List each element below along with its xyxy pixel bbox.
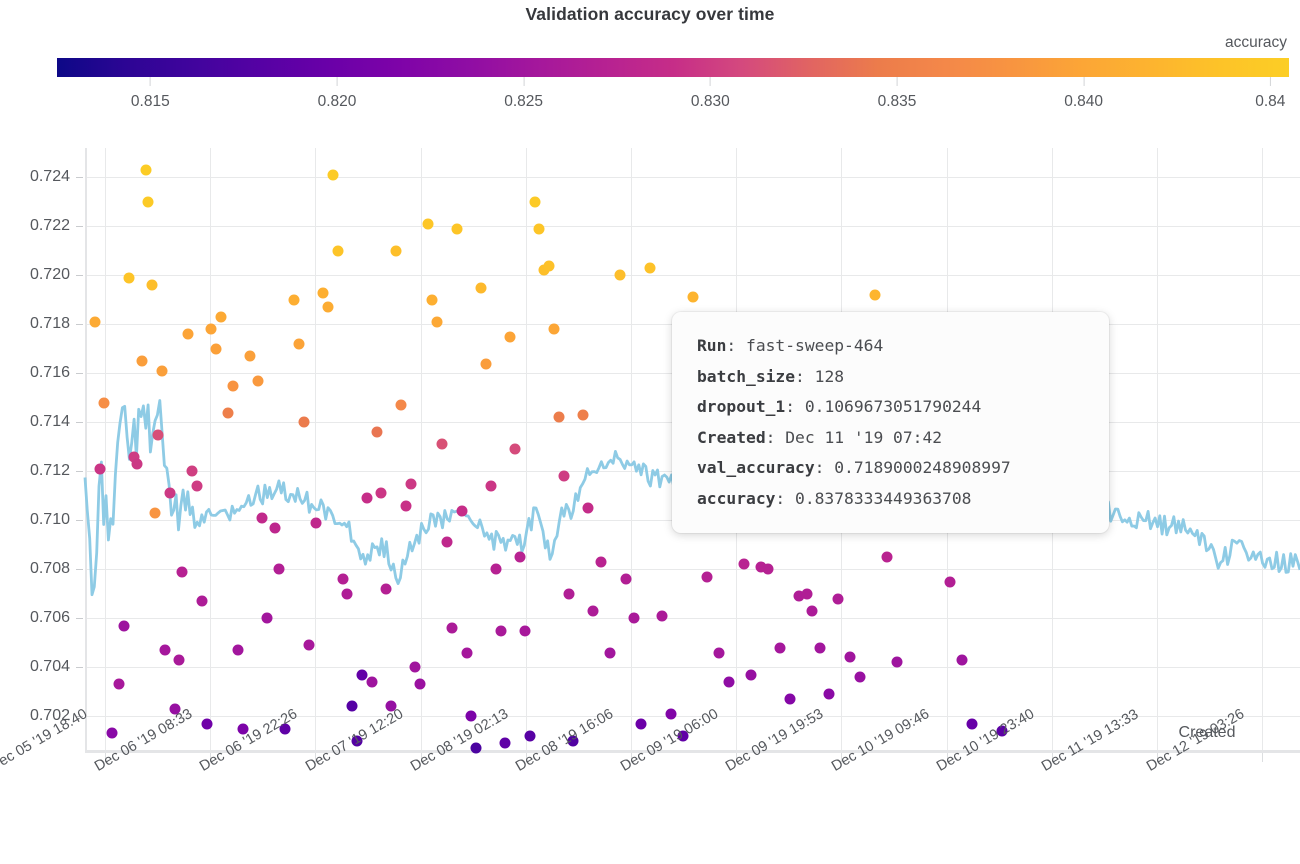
scatter-point[interactable] — [636, 718, 647, 729]
scatter-point[interactable] — [152, 429, 163, 440]
scatter-point[interactable] — [480, 358, 491, 369]
scatter-point[interactable] — [534, 223, 545, 234]
scatter-point[interactable] — [327, 169, 338, 180]
scatter-point[interactable] — [738, 559, 749, 570]
y-axis-tick-mark — [76, 569, 83, 570]
scatter-point[interactable] — [228, 380, 239, 391]
colorbar-ticks: 0.8150.8200.8250.8300.8350.8400.84 — [57, 77, 1289, 117]
y-axis-tick-label: 0.712 — [0, 462, 70, 480]
scatter-point[interactable] — [233, 645, 244, 656]
colorbar-tick-label: 0.815 — [131, 93, 170, 111]
scatter-point[interactable] — [123, 272, 134, 283]
scatter-point[interactable] — [784, 694, 795, 705]
colorbar-tick-label: 0.825 — [504, 93, 543, 111]
scatter-point[interactable] — [337, 574, 348, 585]
scatter-point[interactable] — [427, 294, 438, 305]
scatter-point[interactable] — [318, 287, 329, 298]
scatter-point[interactable] — [614, 270, 625, 281]
scatter-point[interactable] — [762, 564, 773, 575]
scatter-point[interactable] — [177, 566, 188, 577]
scatter-point[interactable] — [476, 282, 487, 293]
scatter-point[interactable] — [461, 647, 472, 658]
scatter-point[interactable] — [183, 329, 194, 340]
tooltip-row: batch_size: 128 — [697, 362, 1109, 393]
scatter-point[interactable] — [891, 657, 902, 668]
scatter-point[interactable] — [114, 679, 125, 690]
y-axis-tick-mark — [76, 618, 83, 619]
scatter-point[interactable] — [252, 375, 263, 386]
tooltip-key: dropout_1 — [697, 397, 785, 416]
scatter-point[interactable] — [815, 642, 826, 653]
scatter-point[interactable] — [437, 439, 448, 450]
y-axis-tick-mark — [76, 422, 83, 423]
scatter-point[interactable] — [801, 588, 812, 599]
y-axis-tick-label: 0.710 — [0, 511, 70, 529]
scatter-point[interactable] — [881, 552, 892, 563]
scatter-point[interactable] — [505, 331, 516, 342]
scatter-point[interactable] — [587, 605, 598, 616]
scatter-point[interactable] — [332, 245, 343, 256]
scatter-point[interactable] — [524, 730, 535, 741]
colorbar-tick: 0.815 — [131, 77, 170, 111]
scatter-point[interactable] — [665, 708, 676, 719]
scatter-point[interactable] — [381, 583, 392, 594]
scatter-point[interactable] — [604, 647, 615, 658]
scatter-point[interactable] — [806, 605, 817, 616]
colorbar-tick-mark — [896, 77, 897, 86]
tooltip-value: : 0.1069673051790244 — [785, 397, 981, 416]
y-axis-tick-label: 0.706 — [0, 609, 70, 627]
tooltip-value: : Dec 11 '19 07:42 — [766, 428, 942, 447]
tooltip-key: Run — [697, 336, 726, 355]
scatter-point[interactable] — [150, 507, 161, 518]
y-axis-tick-mark — [76, 667, 83, 668]
scatter-point[interactable] — [466, 711, 477, 722]
scatter-point[interactable] — [245, 351, 256, 362]
scatter-point[interactable] — [186, 466, 197, 477]
scatter-point[interactable] — [143, 196, 154, 207]
colorbar-tick-label: 0.835 — [878, 93, 917, 111]
colorbar-tick-mark — [710, 77, 711, 86]
scatter-point[interactable] — [490, 564, 501, 575]
tooltip-row: val_accuracy: 0.7189000248908997 — [697, 453, 1109, 484]
scatter-point[interactable] — [137, 356, 148, 367]
scatter-point[interactable] — [558, 471, 569, 482]
scatter-point[interactable] — [657, 610, 668, 621]
scatter-point[interactable] — [945, 576, 956, 587]
colorbar-tick-mark — [1270, 77, 1271, 86]
scatter-point[interactable] — [165, 488, 176, 499]
scatter-point[interactable] — [544, 260, 555, 271]
y-axis-tick-mark — [76, 373, 83, 374]
scatter-point[interactable] — [833, 593, 844, 604]
tooltip-row: Run: fast-sweep-464 — [697, 331, 1109, 362]
scatter-point[interactable] — [366, 676, 377, 687]
colorbar-label: accuracy — [1225, 34, 1287, 52]
scatter-point[interactable] — [173, 654, 184, 665]
tooltip-value: : 0.7189000248908997 — [815, 458, 1011, 477]
scatter-point[interactable] — [519, 625, 530, 636]
scatter-point[interactable] — [620, 574, 631, 585]
scatter-point[interactable] — [257, 512, 268, 523]
colorbar-tick-mark — [336, 77, 337, 86]
scatter-point[interactable] — [274, 564, 285, 575]
x-axis-title: Created — [1179, 724, 1236, 742]
y-axis-tick-label: 0.724 — [0, 168, 70, 186]
colorbar-tick: 0.840 — [1064, 77, 1103, 111]
colorbar-gradient — [57, 58, 1289, 77]
scatter-point[interactable] — [342, 588, 353, 599]
scatter-point[interactable] — [310, 517, 321, 528]
scatter-point[interactable] — [442, 537, 453, 548]
tooltip-value: : 0.8378333449363708 — [775, 489, 971, 508]
scatter-point[interactable] — [563, 588, 574, 599]
scatter-point[interactable] — [855, 672, 866, 683]
scatter-point[interactable] — [347, 701, 358, 712]
scatter-point[interactable] — [553, 412, 564, 423]
scatter-point[interactable] — [160, 645, 171, 656]
scatter-point[interactable] — [146, 280, 157, 291]
scatter-point[interactable] — [500, 738, 511, 749]
y-axis-tick-label: 0.704 — [0, 658, 70, 676]
scatter-point[interactable] — [495, 625, 506, 636]
scatter-point[interactable] — [191, 481, 202, 492]
page-title: Validation accuracy over time — [0, 0, 1300, 28]
scatter-point[interactable] — [745, 669, 756, 680]
scatter-point[interactable] — [262, 613, 273, 624]
scatter-point[interactable] — [140, 165, 151, 176]
scatter-point[interactable] — [371, 427, 382, 438]
colorbar-tick-label: 0.820 — [318, 93, 357, 111]
scatter-point[interactable] — [583, 503, 594, 514]
y-axis-tick-label: 0.714 — [0, 413, 70, 431]
tooltip-value: : 128 — [795, 367, 844, 386]
y-axis-tick-mark — [76, 226, 83, 227]
scatter-point[interactable] — [303, 640, 314, 651]
scatter-point[interactable] — [201, 718, 212, 729]
scatter-point[interactable] — [106, 728, 117, 739]
scatter-point[interactable] — [471, 743, 482, 754]
scatter-point[interactable] — [288, 294, 299, 305]
y-axis-tick-label: 0.708 — [0, 560, 70, 578]
scatter-point[interactable] — [823, 689, 834, 700]
y-axis-tick-mark — [76, 520, 83, 521]
scatter-point[interactable] — [400, 500, 411, 511]
scatter-point[interactable] — [451, 223, 462, 234]
scatter-point[interactable] — [211, 343, 222, 354]
scatter-point[interactable] — [714, 647, 725, 658]
scatter-point[interactable] — [510, 444, 521, 455]
scatter-point[interactable] — [578, 409, 589, 420]
tooltip-row: Created: Dec 11 '19 07:42 — [697, 423, 1109, 454]
y-axis-tick-mark — [76, 177, 83, 178]
scatter-point[interactable] — [94, 463, 105, 474]
colorbar-tick-label: 0.84 — [1255, 93, 1285, 111]
tooltip-key: batch_size — [697, 367, 795, 386]
scatter-point[interactable] — [485, 481, 496, 492]
scatter-point[interactable] — [644, 263, 655, 274]
tooltip-key: val_accuracy — [697, 458, 815, 477]
scatter-point[interactable] — [376, 488, 387, 499]
tooltip-row: accuracy: 0.8378333449363708 — [697, 484, 1109, 515]
scatter-point[interactable] — [845, 652, 856, 663]
scatter-point[interactable] — [293, 338, 304, 349]
scatter-point[interactable] — [514, 552, 525, 563]
scatter-point[interactable] — [456, 505, 467, 516]
scatter-point[interactable] — [269, 522, 280, 533]
scatter-point[interactable] — [702, 571, 713, 582]
colorbar-tick-label: 0.840 — [1064, 93, 1103, 111]
scatter-point[interactable] — [395, 400, 406, 411]
colorbar-tick-mark — [1083, 77, 1084, 86]
scatter-point[interactable] — [957, 654, 968, 665]
y-axis-tick-label: 0.716 — [0, 364, 70, 382]
run-tooltip: Run: fast-sweep-464batch_size: 128dropou… — [672, 312, 1109, 533]
y-axis-tick-label: 0.718 — [0, 315, 70, 333]
scatter-point[interactable] — [99, 397, 110, 408]
scatter-point[interactable] — [196, 596, 207, 607]
colorbar: accuracy 0.8150.8200.8250.8300.8350.8400… — [57, 58, 1289, 77]
scatter-point[interactable] — [410, 662, 421, 673]
chart-root: Validation accuracy over time accuracy 0… — [0, 0, 1300, 864]
tooltip-key: Created — [697, 428, 766, 447]
scatter-point[interactable] — [405, 478, 416, 489]
tooltip-value: : fast-sweep-464 — [726, 336, 883, 355]
colorbar-tick: 0.830 — [691, 77, 730, 111]
colorbar-tick-label: 0.830 — [691, 93, 730, 111]
scatter-point[interactable] — [687, 292, 698, 303]
scatter-point[interactable] — [323, 302, 334, 313]
scatter-point[interactable] — [361, 493, 372, 504]
scatter-point[interactable] — [132, 458, 143, 469]
colorbar-tick-mark — [150, 77, 151, 86]
scatter-point[interactable] — [723, 676, 734, 687]
scatter-point[interactable] — [415, 679, 426, 690]
tooltip-row: dropout_1: 0.1069673051790244 — [697, 392, 1109, 423]
scatter-point[interactable] — [118, 620, 129, 631]
colorbar-tick: 0.84 — [1255, 77, 1285, 111]
colorbar-tick: 0.825 — [504, 77, 543, 111]
scatter-point[interactable] — [446, 623, 457, 634]
scatter-point[interactable] — [966, 718, 977, 729]
scatter-point[interactable] — [89, 316, 100, 327]
scatter-point[interactable] — [869, 289, 880, 300]
y-axis-tick-label: 0.722 — [0, 217, 70, 235]
scatter-point[interactable] — [774, 642, 785, 653]
scatter-point[interactable] — [156, 365, 167, 376]
y-axis-tick-mark — [76, 471, 83, 472]
scatter-point[interactable] — [391, 245, 402, 256]
colorbar-tick: 0.835 — [878, 77, 917, 111]
y-axis-tick-mark — [76, 275, 83, 276]
colorbar-tick-mark — [523, 77, 524, 86]
scatter-point[interactable] — [432, 316, 443, 327]
y-axis-tick-mark — [76, 324, 83, 325]
scatter-point[interactable] — [548, 324, 559, 335]
scatter-point[interactable] — [422, 218, 433, 229]
scatter-point[interactable] — [529, 196, 540, 207]
y-axis-tick-label: 0.720 — [0, 266, 70, 284]
scatter-point[interactable] — [216, 312, 227, 323]
x-axis-tick-mark — [1262, 753, 1263, 762]
scatter-point[interactable] — [223, 407, 234, 418]
scatter-point[interactable] — [206, 324, 217, 335]
scatter-point[interactable] — [596, 556, 607, 567]
colorbar-tick: 0.820 — [318, 77, 357, 111]
scatter-point[interactable] — [298, 417, 309, 428]
tooltip-key: accuracy — [697, 489, 775, 508]
scatter-point[interactable] — [629, 613, 640, 624]
